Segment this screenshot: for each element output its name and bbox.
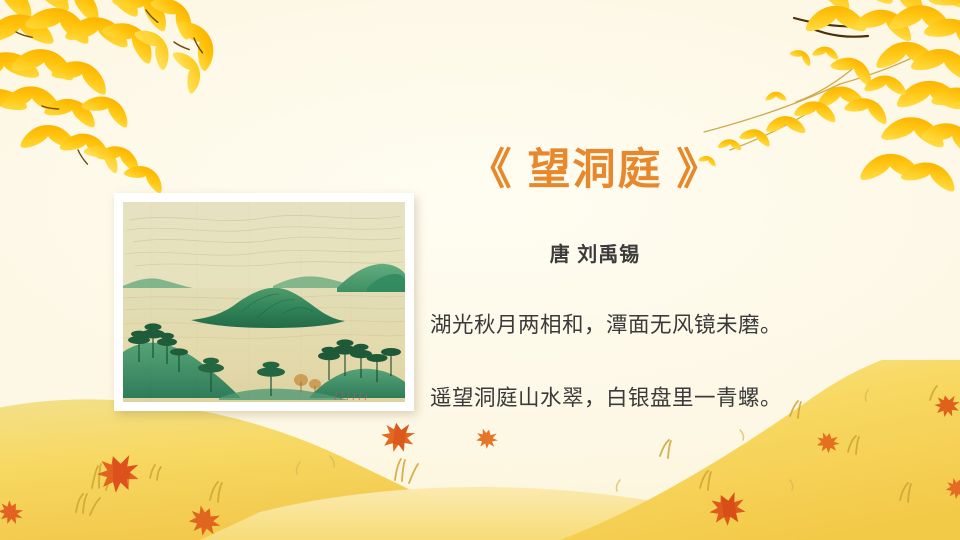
landscape-painting-frame bbox=[114, 193, 414, 411]
maple-leaf bbox=[0, 393, 960, 540]
chinese-landscape-painting bbox=[123, 202, 405, 402]
poem-title: 《 望洞庭 》 bbox=[430, 148, 760, 193]
ginkgo-leaves-top-left-decoration bbox=[0, 0, 286, 220]
slide-canvas: 《 望洞庭 》 唐 刘禹锡 湖光秋月两相和，潭面无风镜未磨。 遥望洞庭山水翠，白… bbox=[0, 0, 960, 540]
poem-line-2: 遥望洞庭山水翠，白银盘里一青螺。 bbox=[430, 381, 790, 412]
poem-author: 唐 刘禹锡 bbox=[430, 238, 760, 267]
poem-line-1: 湖光秋月两相和，潭面无风镜未磨。 bbox=[430, 308, 790, 339]
